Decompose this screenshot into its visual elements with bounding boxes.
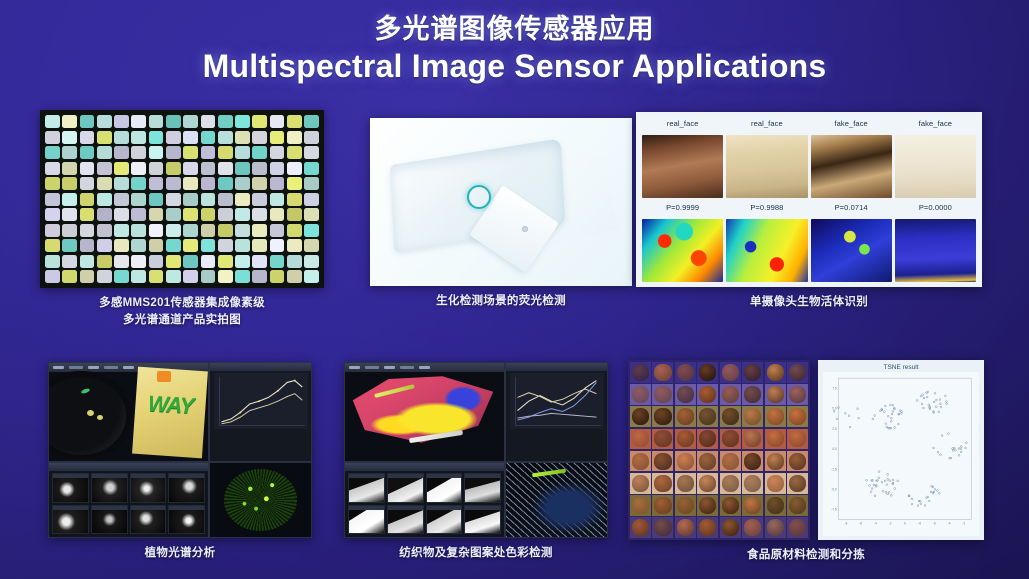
mosaic-pixel (252, 224, 267, 237)
mosaic-pixel (149, 115, 164, 128)
produce-item (632, 497, 649, 514)
produce-item (654, 364, 671, 381)
spectral-band-cell (697, 384, 718, 405)
mosaic-pixel (270, 255, 285, 268)
mosaic-pixel (114, 193, 129, 206)
mosaic-pixel (183, 224, 198, 237)
spectral-band-cell (765, 429, 786, 450)
produce-item (789, 453, 806, 470)
spectral-band-cell (630, 495, 651, 516)
mosaic-pixel (252, 115, 267, 128)
spectral-band-cell (675, 495, 696, 516)
produce-item (654, 519, 671, 536)
mosaic-pixel (235, 270, 250, 283)
spectral-band-cell (652, 517, 673, 538)
mosaic-pixel (131, 255, 146, 268)
seed-particle (97, 415, 103, 420)
produce-item (744, 386, 761, 403)
mosaic-pixel (287, 146, 302, 159)
mosaic-pixel (287, 177, 302, 190)
spectragraph-titlebar[interactable] (210, 363, 311, 371)
mosaic-pixel (131, 270, 146, 283)
band-thumbnail[interactable] (168, 505, 205, 534)
screw-icon (522, 226, 528, 232)
spectral-band-cell (652, 362, 673, 383)
spectral-band-cell (787, 384, 808, 405)
mosaic-pixel (45, 255, 60, 268)
mosaic-pixel (97, 255, 112, 268)
produce-item (699, 497, 716, 514)
mosaic-pixel (166, 162, 181, 175)
produce-item (632, 408, 649, 425)
produce-item (722, 519, 739, 536)
spectral-band-cell (742, 451, 763, 472)
mosaic-pixel (218, 162, 233, 175)
mosaic-pixel (201, 193, 216, 206)
mosaic-pixel (80, 270, 95, 283)
produce-item (699, 430, 716, 447)
produce-item (654, 497, 671, 514)
svg-text:-8: -8 (845, 522, 848, 526)
mosaic-pixel (304, 115, 319, 128)
mosaic-pixel (80, 193, 95, 206)
mosaic-pixel (149, 162, 164, 175)
food-sorting-image: TSNE result 7.55.02.50.0-2.5-5.0-7.5-8-6… (628, 360, 984, 540)
spectral-band-cell (720, 495, 741, 516)
spectral-band-cell (697, 517, 718, 538)
face-heatmap-1 (642, 219, 723, 282)
classification-result-view (209, 462, 312, 538)
mosaic-pixel (235, 239, 250, 252)
svg-text:-2.5: -2.5 (831, 467, 837, 471)
spectral-band-cell (742, 473, 763, 494)
produce-item (699, 519, 716, 536)
spectral-band-cell (720, 384, 741, 405)
spectral-band-cell (630, 384, 651, 405)
mosaic-pixel (62, 193, 77, 206)
mosaic-pixel (252, 162, 267, 175)
produce-item (744, 408, 761, 425)
mosaic-pixel (304, 208, 319, 221)
mosaic-pixel (183, 208, 198, 221)
mosaic-pixel (183, 177, 198, 190)
mosaic-pixel (97, 270, 112, 283)
spectral-band-cell (675, 473, 696, 494)
mosaic-pixel (131, 177, 146, 190)
produce-item (722, 430, 739, 447)
mosaic-pixel (252, 239, 267, 252)
mosaic-pixel (62, 131, 77, 144)
band-thumbnail-grid (344, 462, 505, 538)
mosaic-pixel (166, 224, 181, 237)
produce-item (789, 430, 806, 447)
mosaic-pixel (97, 162, 112, 175)
produce-item (722, 453, 739, 470)
mosaic-pixel (114, 239, 129, 252)
produce-item (722, 475, 739, 492)
band-thumbnail[interactable] (91, 505, 128, 534)
mosaic-pixel (218, 239, 233, 252)
mosaic-pixel (201, 162, 216, 175)
mosaic-pixel (235, 162, 250, 175)
produce-item (654, 386, 671, 403)
sensor-mosaic-image (40, 110, 324, 288)
classification-speckle-map (224, 469, 297, 531)
scatter-canvas: 7.55.02.50.0-2.5-5.0-7.5-8-6-4-20-8-6-4-… (823, 372, 979, 536)
spectral-band-cell (630, 473, 651, 494)
spectral-band-cell (765, 517, 786, 538)
mosaic-pixel (183, 162, 198, 175)
mosaic-pixel (97, 177, 112, 190)
caption-line-1: 多感MMS201传感器集成像素级 (40, 295, 324, 312)
produce-item (744, 453, 761, 470)
face-probability-4: P=0.0000 (895, 201, 976, 216)
face-photo-3 (811, 135, 892, 198)
mosaic-pixel (235, 224, 250, 237)
mosaic-pixel (218, 193, 233, 206)
caption-line-2: 多光谱通道产品实拍图 (40, 312, 324, 329)
spectral-band-cell (630, 362, 651, 383)
produce-item (767, 408, 784, 425)
produce-item (744, 364, 761, 381)
caption-face-liveness: 单摄像头生物活体识别 (636, 294, 982, 311)
mosaic-pixel (218, 146, 233, 159)
band-thumbnail[interactable] (52, 505, 89, 534)
spectral-band-cell (652, 495, 673, 516)
spectragraph-titlebar[interactable] (506, 363, 607, 371)
face-probability-3: P=0.0714 (811, 201, 892, 216)
face-heatmap-2 (726, 219, 807, 282)
produce-item (632, 386, 649, 403)
face-heatmap-4 (895, 219, 976, 282)
spectral-band-cell (742, 517, 763, 538)
mosaic-pixel (45, 239, 60, 252)
mosaic-pixel (62, 162, 77, 175)
mosaic-pixel (235, 208, 250, 221)
mosaic-pixel (304, 239, 319, 252)
produce-item (722, 364, 739, 381)
mosaic-pixel (62, 146, 77, 159)
spectral-band-cell (697, 495, 718, 516)
spectral-band-cell (630, 517, 651, 538)
mosaic-pixel (114, 224, 129, 237)
produce-item (699, 453, 716, 470)
mosaic-pixel (97, 193, 112, 206)
mosaic-pixel (45, 224, 60, 237)
mosaic-pixel (287, 208, 302, 221)
mosaic-pixel (218, 177, 233, 190)
mosaic-pixel (149, 239, 164, 252)
produce-item (767, 475, 784, 492)
produce-item (654, 430, 671, 447)
slide-title-block: 多光谱图像传感器应用 Multispectral Image Sensor Ap… (0, 14, 1029, 85)
spectral-band-cell (630, 406, 651, 427)
spectral-band-cell (675, 384, 696, 405)
produce-item (789, 519, 806, 536)
spectral-band-cell (720, 517, 741, 538)
mosaic-pixel (149, 255, 164, 268)
produce-item (744, 475, 761, 492)
mosaic-pixel (304, 193, 319, 206)
produce-item (677, 453, 694, 470)
mosaic-pixel (270, 177, 285, 190)
produce-item (722, 408, 739, 425)
spectral-band-cell (720, 451, 741, 472)
mosaic-pixel (131, 162, 146, 175)
mosaic-pixel (201, 239, 216, 252)
produce-item (699, 408, 716, 425)
mosaic-pixel (131, 131, 146, 144)
produce-item (632, 475, 649, 492)
mosaic-pixel (270, 115, 285, 128)
mosaic-pixel (218, 208, 233, 221)
spectral-band-cell (697, 362, 718, 383)
svg-text:-8: -8 (918, 522, 921, 526)
band-thumbnail[interactable] (426, 505, 463, 534)
caption-fluorescence: 生化检测场景的荧光检测 (370, 293, 632, 310)
produce-item (654, 475, 671, 492)
mosaic-pixel (80, 208, 95, 221)
mosaic-pixel (45, 115, 60, 128)
mosaic-pixel (201, 270, 216, 283)
produce-item (722, 497, 739, 514)
mosaic-pixel (235, 115, 250, 128)
mosaic-pixel (304, 131, 319, 144)
band-thumbnail[interactable] (91, 473, 128, 502)
mosaic-pixel (252, 177, 267, 190)
panel-plant-spectra: WAY (48, 362, 312, 562)
mosaic-pixel (201, 115, 216, 128)
produce-item (699, 386, 716, 403)
texture-classification-map (506, 463, 607, 537)
spectral-band-cell (720, 429, 741, 450)
band-thumbnail[interactable] (387, 505, 424, 534)
mosaic-pixel (62, 208, 77, 221)
camera-toolbar[interactable] (345, 363, 504, 372)
mosaic-pixel (80, 224, 95, 237)
caption-line-1: 纺织物及复杂图案处色彩检测 (344, 545, 608, 562)
produce-item (767, 453, 784, 470)
mosaic-pixel (45, 193, 60, 206)
mosaic-pixel (218, 131, 233, 144)
mosaic-pixel (114, 177, 129, 190)
mosaic-pixel (80, 162, 95, 175)
mosaic-pixel (183, 115, 198, 128)
mosaic-pixel (201, 131, 216, 144)
mosaic-pixel (131, 224, 146, 237)
spectral-band-cell (652, 384, 673, 405)
caption-line-1: 生化检测场景的荧光检测 (370, 293, 632, 310)
spectral-band-cell (742, 384, 763, 405)
mosaic-pixel (62, 177, 77, 190)
spectral-band-cell (787, 473, 808, 494)
spectral-band-cell (652, 429, 673, 450)
spectragraph-panel (505, 362, 608, 462)
face-probability-2: P=0.9988 (726, 201, 807, 216)
spectral-band-cell (652, 406, 673, 427)
caption-line-1: 食品原材料检测和分拣 (628, 547, 984, 564)
mosaic-pixel (270, 224, 285, 237)
face-photo-4 (895, 135, 976, 198)
mosaic-pixel (62, 115, 77, 128)
mosaic-pixel (149, 146, 164, 159)
svg-text:-6: -6 (859, 522, 862, 526)
mosaic-pixel (183, 131, 198, 144)
mosaic-pixel (166, 115, 181, 128)
band-thumbnail[interactable] (130, 505, 167, 534)
mosaic-pixel (149, 270, 164, 283)
mosaic-pixel (304, 177, 319, 190)
band-thumbnail[interactable] (387, 473, 424, 502)
mosaic-pixel (304, 162, 319, 175)
face-liveness-image: real_face real_face fake_face fake_face … (636, 112, 982, 287)
produce-item (744, 519, 761, 536)
fluorescence-spot-ring (467, 185, 491, 209)
caption-line-1: 单摄像头生物活体识别 (636, 294, 982, 311)
mosaic-pixel (62, 255, 77, 268)
svg-text:2.5: 2.5 (832, 427, 837, 431)
mosaic-pixel (304, 270, 319, 283)
mosaic-pixel (166, 208, 181, 221)
classification-result-view (505, 462, 608, 538)
face-label-4: fake_face (895, 117, 976, 132)
caption-food-sorting: 食品原材料检测和分拣 (628, 547, 984, 564)
mosaic-pixel (97, 239, 112, 252)
mosaic-pixel (183, 255, 198, 268)
mosaic-pixel (235, 255, 250, 268)
mosaic-pixel (45, 270, 60, 283)
spectral-band-cell (787, 495, 808, 516)
mosaic-pixel (287, 270, 302, 283)
band-thumbnail[interactable] (348, 505, 385, 534)
panel-face-liveness: real_face real_face fake_face fake_face … (636, 112, 982, 311)
logo-mark (157, 371, 171, 382)
mosaic-pixel (218, 115, 233, 128)
band-thumbnail[interactable] (426, 473, 463, 502)
produce-item (677, 430, 694, 447)
mosaic-pixel (201, 177, 216, 190)
mosaic-pixel (80, 255, 95, 268)
mosaic-pixel (270, 239, 285, 252)
spectral-band-cell (697, 429, 718, 450)
mosaic-pixel (252, 270, 267, 283)
produce-item (789, 475, 806, 492)
produce-item (789, 364, 806, 381)
mosaic-pixel (97, 208, 112, 221)
mosaic-pixel (149, 131, 164, 144)
mosaic-pixel (270, 131, 285, 144)
mosaic-pixel (114, 270, 129, 283)
caption-line-1: 植物光谱分析 (48, 545, 312, 562)
mosaic-pixel (97, 115, 112, 128)
produce-item (767, 364, 784, 381)
mosaic-pixel (252, 208, 267, 221)
page-title-english: Multispectral Image Sensor Applications (0, 47, 1029, 85)
mosaic-pixel (201, 146, 216, 159)
svg-text:-5.0: -5.0 (831, 487, 837, 491)
scatter-plot-title: TSNE result (823, 364, 979, 372)
spectral-band-cell (787, 406, 808, 427)
mosaic-pixel (149, 177, 164, 190)
spectral-band-grid (628, 360, 810, 540)
mosaic-pixel (252, 146, 267, 159)
face-photo-2 (726, 135, 807, 198)
mosaic-pixel (304, 255, 319, 268)
band-thumbnail[interactable] (464, 473, 501, 502)
band-thumbnail[interactable] (348, 473, 385, 502)
mosaic-pixel (80, 177, 95, 190)
spectral-band-cell (765, 473, 786, 494)
spectral-band-cell (720, 473, 741, 494)
band-thumbnail[interactable] (52, 473, 89, 502)
produce-item (632, 519, 649, 536)
mosaic-pixel (166, 239, 181, 252)
spectral-band-cell (765, 495, 786, 516)
spectral-band-cell (742, 429, 763, 450)
mosaic-pixel (287, 131, 302, 144)
band-thumbnail[interactable] (168, 473, 205, 502)
mosaic-pixel (252, 193, 267, 206)
mosaic-pixel (235, 146, 250, 159)
mosaic-pixel (97, 131, 112, 144)
band-thumbnail-grid (48, 462, 209, 538)
spectral-band-cell (765, 451, 786, 472)
spectral-band-cell (652, 473, 673, 494)
face-photo-1 (642, 135, 723, 198)
mosaic-pixel (287, 255, 302, 268)
mosaic-pixel (131, 208, 146, 221)
mosaic-pixel (149, 193, 164, 206)
mosaic-pixel (287, 224, 302, 237)
mosaic-pixel (131, 115, 146, 128)
camera-view (344, 362, 505, 462)
spectral-band-cell (697, 406, 718, 427)
mosaic-pixel (166, 146, 181, 159)
mosaic-pixel (166, 131, 181, 144)
mosaic-pixel (45, 131, 60, 144)
band-thumbnail[interactable] (464, 505, 501, 534)
produce-item (789, 408, 806, 425)
spectral-band-cell (630, 451, 651, 472)
mosaic-pixel (201, 255, 216, 268)
mosaic-pixel (270, 270, 285, 283)
face-sample-grid: real_face real_face fake_face fake_face … (639, 115, 979, 284)
mosaic-pixel (114, 146, 129, 159)
page-title-chinese: 多光谱图像传感器应用 (0, 14, 1029, 45)
mosaic-pixel (201, 224, 216, 237)
panel-textile-color: 纺织物及复杂图案处色彩检测 (344, 362, 608, 562)
spectral-band-cell (630, 429, 651, 450)
mosaic-pixel (270, 146, 285, 159)
spectral-band-cell (765, 406, 786, 427)
mosaic-pixel (114, 255, 129, 268)
spectral-band-cell (720, 362, 741, 383)
svg-text:-2: -2 (962, 522, 965, 526)
mosaic-pixel (218, 224, 233, 237)
produce-item (744, 430, 761, 447)
mosaic-pixel (287, 193, 302, 206)
mosaic-pixel (80, 115, 95, 128)
band-thumbnail[interactable] (130, 473, 167, 502)
mosaic-pixel (80, 146, 95, 159)
sample-plate (48, 371, 132, 461)
face-label-2: real_face (726, 117, 807, 132)
spectral-band-cell (675, 429, 696, 450)
produce-item (677, 408, 694, 425)
mosaic-pixel (183, 239, 198, 252)
panel-sensor-mosaic: 多感MMS201传感器集成像素级 多光谱通道产品实拍图 (40, 110, 324, 328)
svg-text:0: 0 (904, 522, 906, 526)
